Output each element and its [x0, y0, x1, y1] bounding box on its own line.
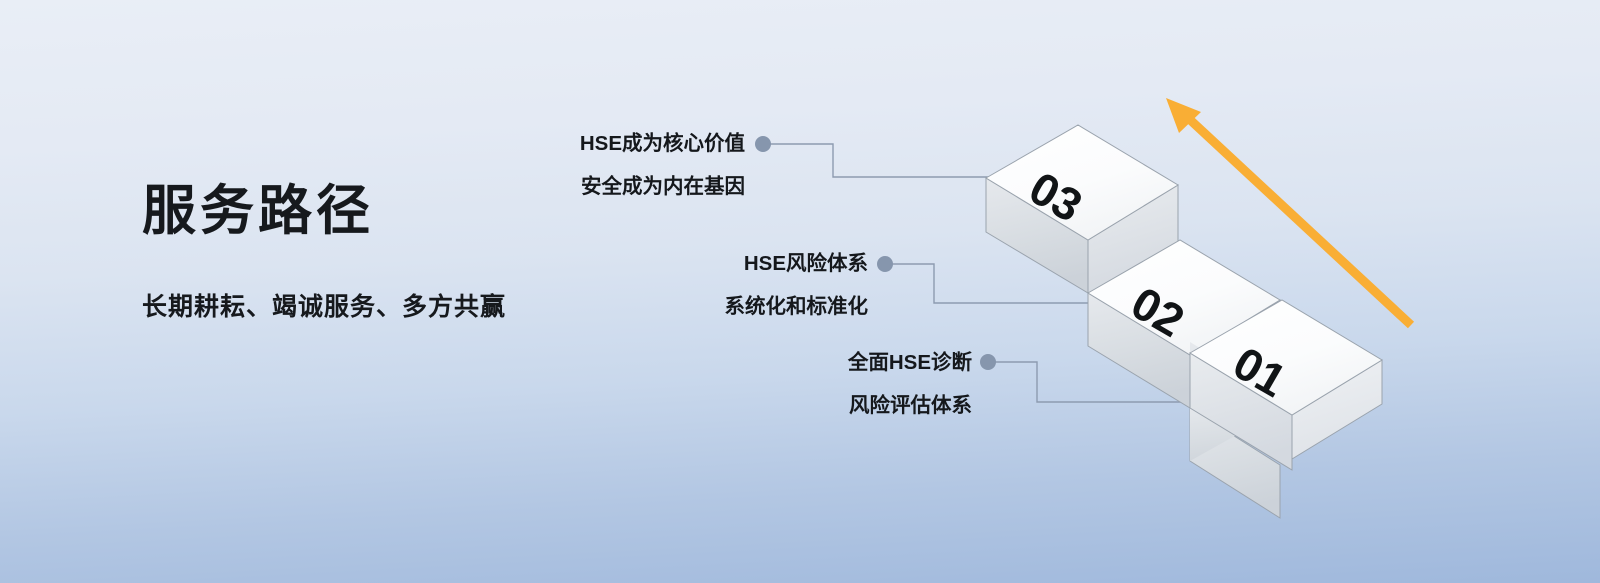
- slide-canvas: 服务路径 长期耕耘、竭诚服务、多方共赢 HSE成为核心价值 安全成为内在基因 H…: [0, 0, 1600, 583]
- connector-step-03-line: [766, 144, 994, 177]
- connector-step-01-dot: [980, 354, 996, 370]
- connector-step-02-dot: [877, 256, 893, 272]
- isometric-staircase-diagram: 03 02 01: [0, 0, 1600, 583]
- connector-step-03: [755, 136, 994, 177]
- connector-step-03-dot: [755, 136, 771, 152]
